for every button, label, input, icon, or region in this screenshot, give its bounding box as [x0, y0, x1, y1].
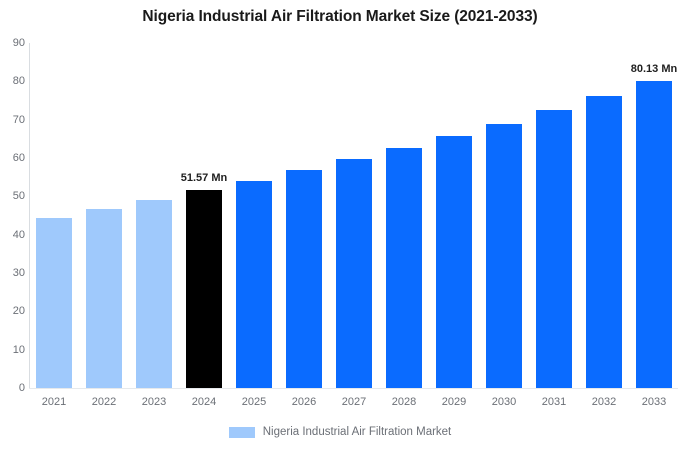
- legend-swatch-icon: [229, 427, 255, 438]
- plot-area: [30, 43, 678, 388]
- bar-2029[interactable]: [436, 136, 472, 388]
- legend-label: Nigeria Industrial Air Filtration Market: [263, 426, 452, 438]
- bar-2023[interactable]: [136, 200, 172, 388]
- y-axis-tick-label: 90: [1, 37, 25, 49]
- y-axis-tick-label: 60: [1, 152, 25, 164]
- y-axis-tick-label: 30: [1, 267, 25, 279]
- x-axis-tick-label-2024: 2024: [192, 396, 216, 408]
- x-axis-line: [29, 388, 678, 389]
- x-axis-tick-label-2023: 2023: [142, 396, 166, 408]
- y-axis-tick-label: 80: [1, 75, 25, 87]
- y-axis-tick-label: 20: [1, 305, 25, 317]
- y-axis-tick-label: 10: [1, 344, 25, 356]
- chart-title: Nigeria Industrial Air Filtration Market…: [0, 8, 680, 26]
- y-axis-tick-label: 0: [1, 382, 25, 394]
- y-axis: 0102030405060708090: [0, 0, 25, 450]
- bar-2026[interactable]: [286, 170, 322, 388]
- x-axis-tick-label-2029: 2029: [442, 396, 466, 408]
- x-axis-tick-label-2030: 2030: [492, 396, 516, 408]
- bar-2022[interactable]: [86, 209, 122, 388]
- bar-value-label-2024: 51.57 Mn: [181, 172, 227, 184]
- bar-2032[interactable]: [586, 96, 622, 388]
- x-axis-tick-label-2022: 2022: [92, 396, 116, 408]
- bar-2024[interactable]: [186, 190, 222, 388]
- bar-2033[interactable]: [636, 81, 672, 388]
- y-axis-tick-label: 50: [1, 190, 25, 202]
- chart-container: Nigeria Industrial Air Filtration Market…: [0, 0, 680, 450]
- bar-2030[interactable]: [486, 124, 522, 389]
- chart-legend: Nigeria Industrial Air Filtration Market: [0, 426, 680, 438]
- x-axis-tick-label-2021: 2021: [42, 396, 66, 408]
- x-axis-tick-label-2033: 2033: [642, 396, 666, 408]
- x-axis-tick-label-2032: 2032: [592, 396, 616, 408]
- x-axis-tick-label-2031: 2031: [542, 396, 566, 408]
- y-axis-tick-label: 40: [1, 229, 25, 241]
- y-axis-tick-label: 70: [1, 114, 25, 126]
- bar-2021[interactable]: [36, 218, 72, 388]
- bar-value-label-2033: 80.13 Mn: [631, 63, 677, 75]
- bar-2027[interactable]: [336, 159, 372, 388]
- bar-2025[interactable]: [236, 181, 272, 388]
- x-axis-tick-label-2026: 2026: [292, 396, 316, 408]
- x-axis-tick-label-2025: 2025: [242, 396, 266, 408]
- x-axis-tick-label-2027: 2027: [342, 396, 366, 408]
- x-axis-tick-label-2028: 2028: [392, 396, 416, 408]
- bar-2028[interactable]: [386, 148, 422, 388]
- bar-2031[interactable]: [536, 110, 572, 388]
